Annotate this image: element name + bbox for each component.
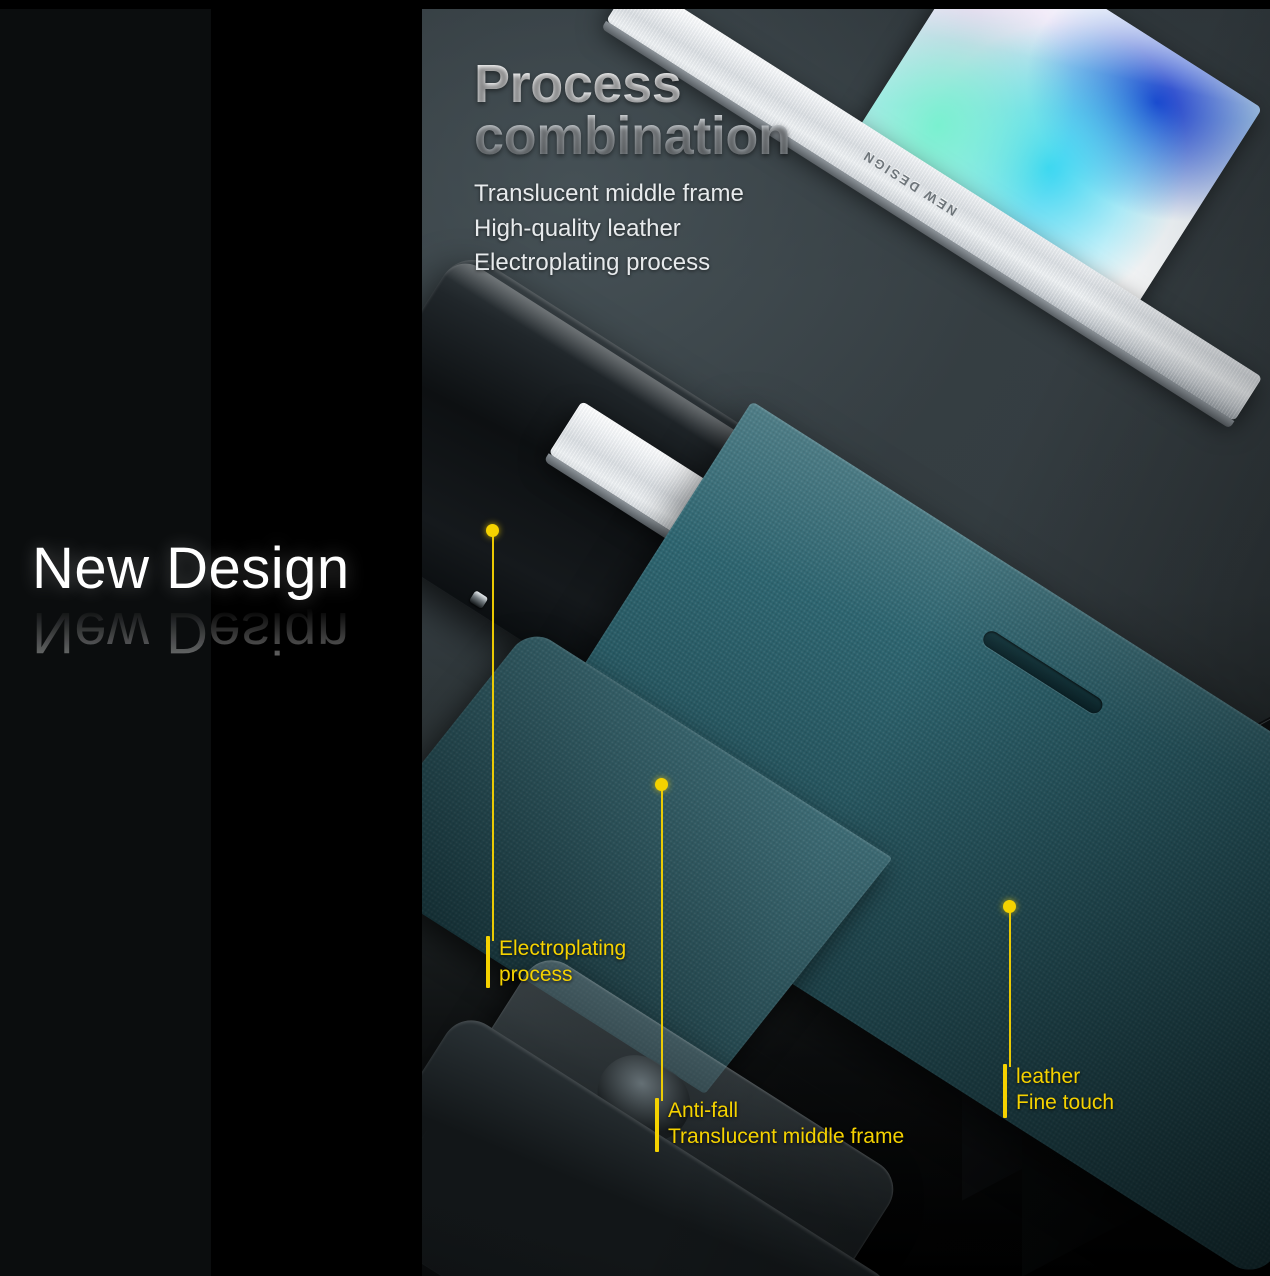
page-title: Process combination [474,58,894,163]
callout-line-1: Anti-fall [668,1099,738,1122]
wordmark-reflection: New Design [32,603,350,661]
callout-text: Anti-fall Translucent middle frame [668,1098,904,1150]
callout-line-leather [1009,907,1011,1067]
callout-line-1: leather [1016,1065,1080,1088]
callout-electroplating: Electroplating process [486,936,626,988]
callout-line-2: Fine touch [1016,1091,1114,1114]
callout-text: leather Fine touch [1016,1064,1114,1116]
callout-bar [1003,1064,1007,1118]
top-black-band [0,0,1270,9]
callout-dot-antifall [655,778,668,791]
callout-dot-leather [1003,900,1016,913]
callout-line-1: Electroplating [499,937,626,960]
product-banner: NEW DESIGN Process combination Transluce… [0,0,1270,1276]
callout-bar [486,936,490,988]
new-design-wordmark: New Design New Design [32,540,350,661]
feature-item: Electroplating process [474,246,894,281]
feature-item: High-quality leather [474,212,894,247]
callout-line-2: process [499,963,573,986]
feature-item: Translucent middle frame [474,177,894,212]
speaker-slot [980,628,1106,716]
callout-bar [655,1098,659,1152]
callout-text: Electroplating process [499,936,626,988]
title-line-2: combination [474,106,791,166]
headline-block: Process combination Translucent middle f… [474,58,894,281]
callout-dot-electroplating [486,524,499,537]
callout-line-electroplating [492,531,494,941]
callout-antifall: Anti-fall Translucent middle frame [655,1098,904,1152]
callout-line-2: Translucent middle frame [668,1125,904,1148]
title-line-1: Process [474,54,681,114]
wordmark-text: New Design [32,540,350,598]
feature-list: Translucent middle frame High-quality le… [474,177,894,281]
callout-leather: leather Fine touch [1003,1064,1114,1118]
callout-line-antifall [661,785,663,1101]
side-button-upper [469,590,489,609]
